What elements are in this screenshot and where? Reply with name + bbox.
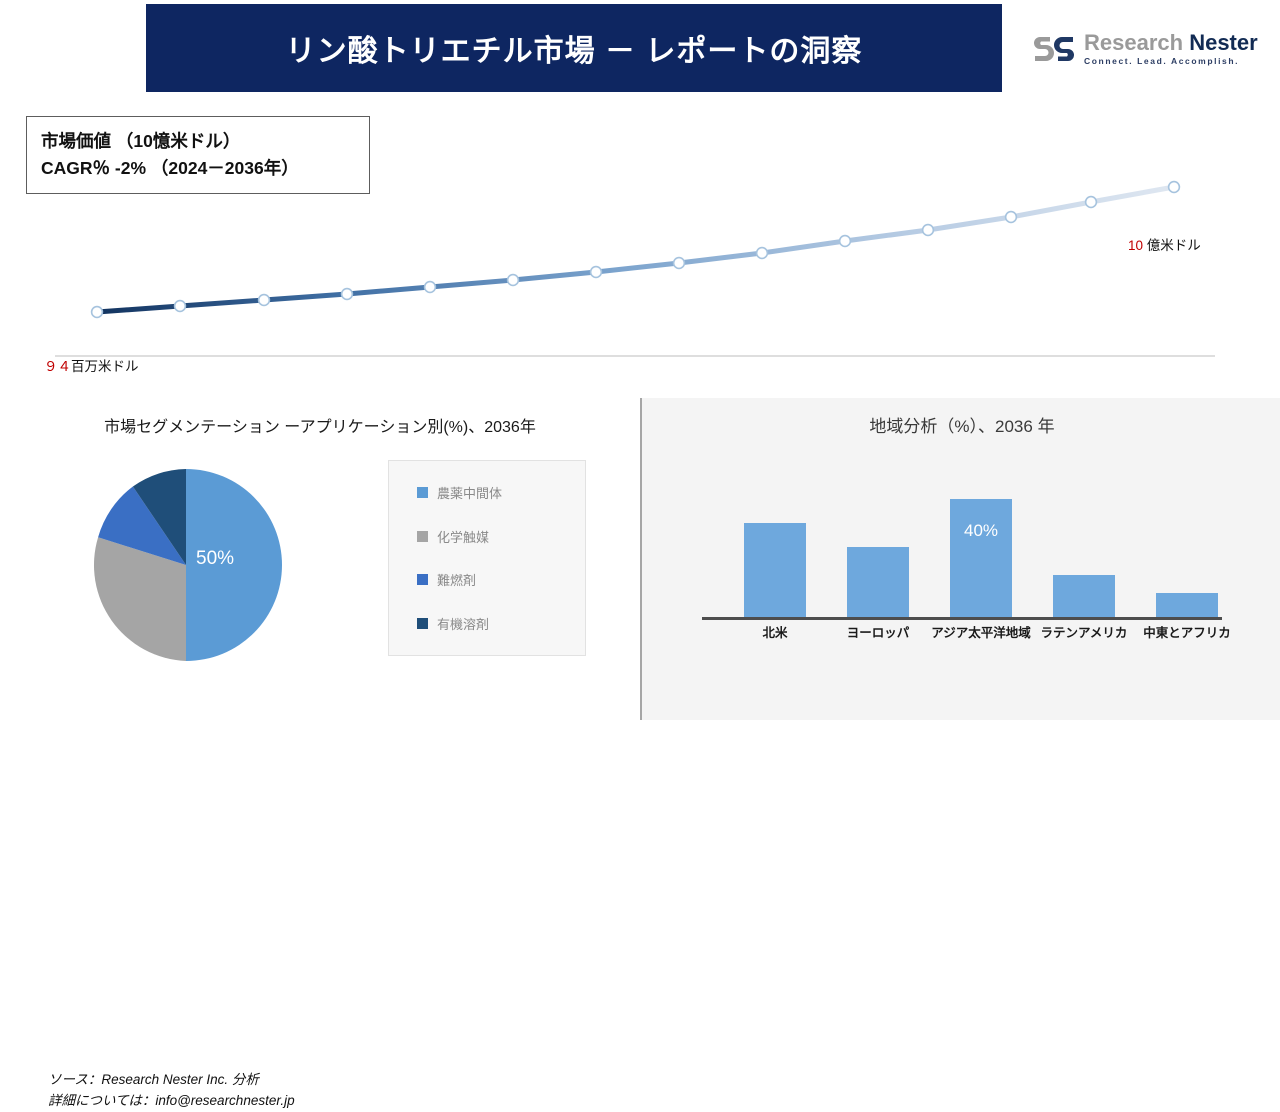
bar-data-label-asia-pacific: 40% [950,521,1012,541]
legend-label-agrochemical: 農薬中間体 [437,483,502,502]
logo-mark-icon [1032,34,1076,64]
brand-logo: Research Nester Connect. Lead. Accomplis… [1032,22,1264,76]
regional-analysis-title: 地域分析（%）、2036 年 [642,412,1280,437]
segmentation-legend: 農薬中間体 化学触媒 難燃剤 有機溶剤 [388,460,586,656]
legend-label-catalyst: 化学触媒 [437,527,489,546]
legend-item-catalyst[interactable]: 化学触媒 [417,527,585,546]
bar-label-middle-east-africa: 中東とアフリカ [1122,622,1252,641]
regional-bar-chart: 40% [700,460,1224,620]
bar-column-europe[interactable] [847,547,909,620]
bar-chart-x-axis: 北米 ヨーロッパ アジア太平洋地域 ラテンアメリカ 中東とアフリカ [700,622,1224,644]
legend-label-flame-retardant: 難燃剤 [437,570,476,589]
market-value-line-chart: ９４百万米ドル 10 億米ドル 2023 2024 2025 2026 2027… [0,100,1280,390]
end-value-number: 10 [1128,238,1143,253]
start-value-label: ９４百万米ドル [44,355,139,375]
pie-data-label: 50% [196,548,234,570]
pie-svg [86,465,286,665]
end-value-unit: 億米ドル [1147,238,1201,253]
bar-chart-baseline [702,617,1222,620]
legend-item-organic-solvent[interactable]: 有機溶剤 [417,614,585,633]
segmentation-title: 市場セグメンテーション ーアプリケーション別(%)、2036年 [60,416,580,439]
page-title: リン酸トリエチル市場 － レポートの洞察 [286,26,863,70]
logo-name-first: Research [1084,30,1183,55]
bar-europe [847,547,909,620]
regional-analysis-panel: 地域分析（%）、2036 年 40% 北米 ヨーロッパ アジア太平洋地域 ラテン… [640,398,1280,720]
legend-label-organic-solvent: 有機溶剤 [437,614,489,633]
header-band: リン酸トリエチル市場 － レポートの洞察 [146,4,1002,92]
end-value-label: 10 億米ドル [1128,234,1201,254]
logo-name-second: Nester [1189,30,1257,55]
segmentation-panel: 市場セグメンテーション ーアプリケーション別(%)、2036年 50% 農薬中間… [0,398,640,720]
bar-column-latin-america[interactable] [1053,575,1115,620]
legend-swatch-icon [417,574,428,585]
start-value-number: ９４ [44,359,71,374]
bar-latin-america [1053,575,1115,620]
bar-column-north-america[interactable] [744,523,806,620]
bar-north-america [744,523,806,620]
line-chart-svg [0,100,1280,390]
legend-swatch-icon [417,531,428,542]
start-value-unit: 百万米ドル [71,359,139,374]
logo-tagline: Connect. Lead. Accomplish. [1084,57,1258,66]
source-line-1: ソース：Research Nester Inc. 分析 [48,1070,295,1091]
bar-asia-pacific: 40% [950,499,1012,620]
segmentation-pie-chart [86,465,286,665]
source-line-2: 詳細については：info@researchnester.jp [48,1091,295,1112]
bar-column-middle-east-africa[interactable] [1156,593,1218,620]
bar-middle-east-africa [1156,593,1218,620]
bar-column-asia-pacific[interactable]: 40% [950,499,1012,620]
legend-swatch-icon [417,618,428,629]
legend-item-flame-retardant[interactable]: 難燃剤 [417,570,585,589]
legend-swatch-icon [417,487,428,498]
legend-item-agrochemical[interactable]: 農薬中間体 [417,483,585,502]
source-note: ソース：Research Nester Inc. 分析 詳細については：info… [48,1070,295,1112]
